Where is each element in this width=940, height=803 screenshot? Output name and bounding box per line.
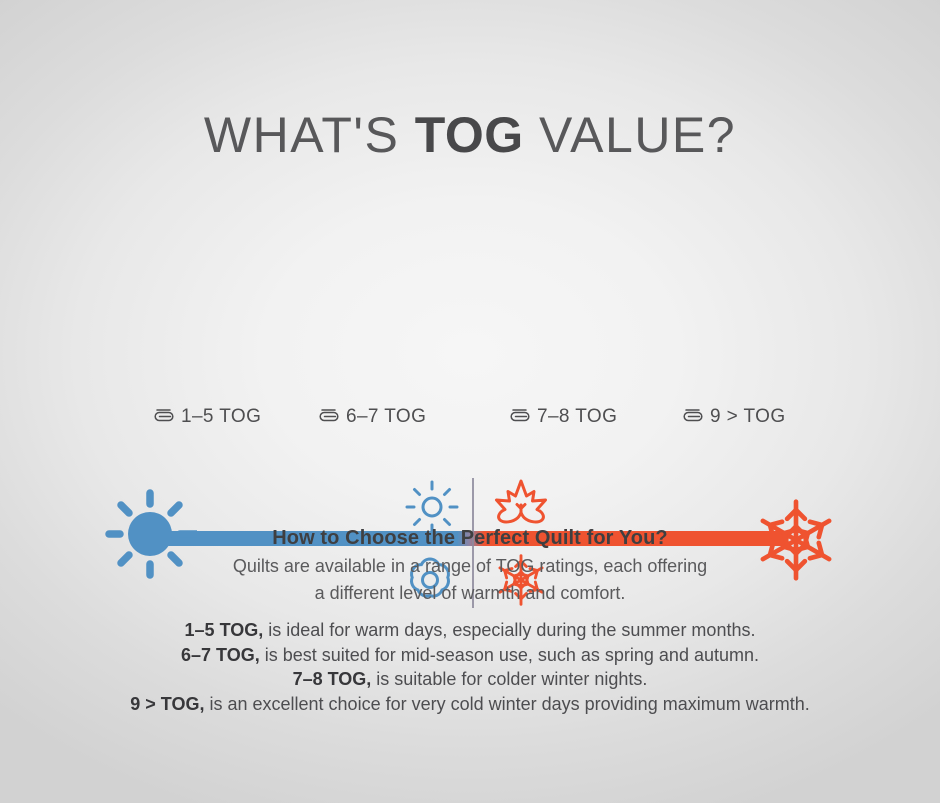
tog-chip-7-8: 7–8 TOG [509,405,617,429]
guidance-heading: How to Choose the Perfect Quilt for You? [0,524,940,552]
title-part-before: WHAT'S [204,107,415,163]
title-emphasis-tog: TOG [415,107,524,163]
tog-rating-list: 1–5 TOG, is ideal for warm days, especia… [0,618,940,716]
rating-description: is best suited for mid-season use, such … [265,645,759,665]
rating-tag: 1–5 TOG, [185,620,264,640]
quilt-icon [318,405,340,429]
tog-chip-label: 1–5 TOG [181,406,261,428]
title-part-after: VALUE? [524,107,736,163]
tog-scale [0,230,940,400]
rating-tag: 9 > TOG, [130,694,204,714]
guidance-copy: How to Choose the Perfect Quilt for You?… [0,524,940,606]
rating-tag: 6–7 TOG, [181,645,260,665]
tog-chip-1-5: 1–5 TOG [153,405,261,429]
quilt-icon [509,405,531,429]
guidance-sub-line-1: Quilts are available in a range of TOG r… [0,554,940,579]
rating-row: 6–7 TOG, is best suited for mid-season u… [0,643,940,668]
guidance-sub-line-2: a different level of warmth and comfort. [0,581,940,606]
tog-range-legend: 1–5 TOG 6–7 TOG [0,405,940,441]
rating-description: is ideal for warm days, especially durin… [268,620,755,640]
rating-description: is suitable for colder winter nights. [376,669,647,689]
tog-chip-6-7: 6–7 TOG [318,405,426,429]
quilt-icon [153,405,175,429]
rating-tag: 7–8 TOG, [293,669,372,689]
rating-description: is an excellent choice for very cold win… [209,694,809,714]
rating-row: 1–5 TOG, is ideal for warm days, especia… [0,618,940,643]
tog-value-infographic: WHAT'S TOG VALUE? [0,0,940,803]
tog-chip-label: 7–8 TOG [537,406,617,428]
tog-chip-label: 6–7 TOG [346,406,426,428]
tog-chip-label: 9 > TOG [710,406,786,428]
page-title: WHAT'S TOG VALUE? [0,104,940,166]
rating-row: 9 > TOG, is an excellent choice for very… [0,692,940,717]
quilt-icon [682,405,704,429]
rating-row: 7–8 TOG, is suitable for colder winter n… [0,667,940,692]
tog-chip-9-plus: 9 > TOG [682,405,786,429]
